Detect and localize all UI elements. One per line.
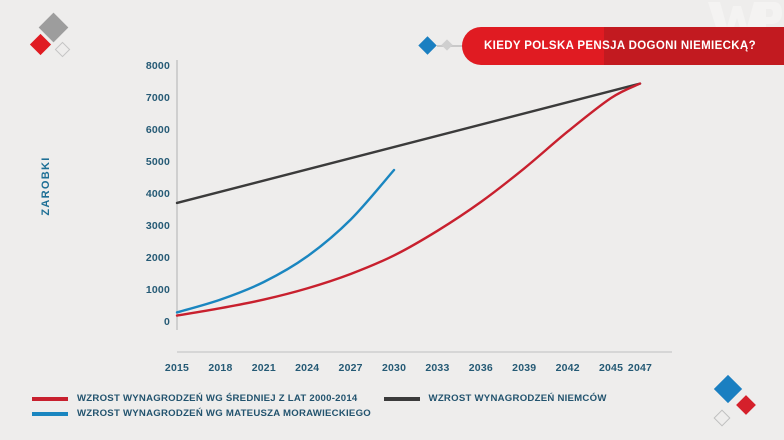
legend-row-1: WZROST WYNAGRODZEŃ WG ŚREDNIEJ Z LAT 200… xyxy=(32,393,633,404)
title-banner: KIEDY POLSKA PENSJA DOGONI NIEMIECKĄ? xyxy=(462,27,784,65)
series-line xyxy=(177,84,640,203)
legend-swatch-gray xyxy=(384,397,420,401)
chart-legend: WZROST WYNAGRODZEŃ WG ŚREDNIEJ Z LAT 200… xyxy=(32,393,633,423)
series-line xyxy=(177,170,394,312)
infographic-canvas: KIEDY POLSKA PENSJA DOGONI NIEMIECKĄ? ZA… xyxy=(0,0,784,440)
series-line xyxy=(177,84,640,316)
legend-item-niemcy: WZROST WYNAGRODZEŃ NIEMCÓW xyxy=(384,393,607,404)
legend-item-srednia: WZROST WYNAGRODZEŃ WG ŚREDNIEJ Z LAT 200… xyxy=(32,393,358,404)
legend-row-2: WZROST WYNAGRODZEŃ WG MATEUSZA MORAWIECK… xyxy=(32,408,633,419)
legend-label-morawiecki: WZROST WYNAGRODZEŃ WG MATEUSZA MORAWIECK… xyxy=(77,408,371,419)
legend-label-srednia: WZROST WYNAGRODZEŃ WG ŚREDNIEJ Z LAT 200… xyxy=(77,393,358,404)
page-title: KIEDY POLSKA PENSJA DOGONI NIEMIECKĄ? xyxy=(462,40,756,52)
legend-swatch-blue xyxy=(32,412,68,416)
legend-label-niemcy: WZROST WYNAGRODZEŃ NIEMCÓW xyxy=(429,393,607,404)
legend-item-morawiecki: WZROST WYNAGRODZEŃ WG MATEUSZA MORAWIECK… xyxy=(32,408,371,419)
chart: ZAROBKI 01000200030004000500060007000800… xyxy=(0,0,784,440)
legend-swatch-red xyxy=(32,397,68,401)
chart-plot xyxy=(0,0,784,440)
